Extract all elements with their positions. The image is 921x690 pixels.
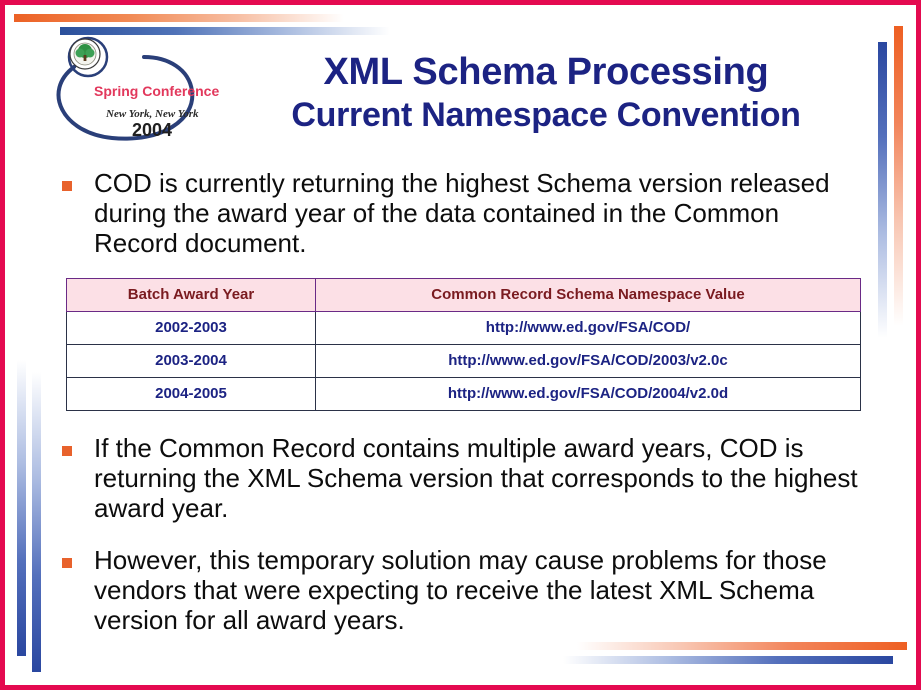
orange-square-bullet-icon — [62, 446, 72, 456]
cell-award-year: 2003-2004 — [67, 345, 316, 378]
namespace-table-body: 2002-2003 http://www.ed.gov/FSA/COD/ 200… — [67, 312, 861, 411]
slide-border-left — [0, 0, 5, 690]
table-header-row: Batch Award Year Common Record Schema Na… — [67, 279, 861, 312]
bullet-item-3: However, this temporary solution may cau… — [62, 545, 862, 635]
decor-bar-right-orange — [894, 26, 903, 326]
decor-bar-bottom-orange — [577, 642, 907, 650]
table-row: 2003-2004 http://www.ed.gov/FSA/COD/2003… — [67, 345, 861, 378]
slide-title: XML Schema Processing Current Namespace … — [216, 50, 876, 136]
slide-border-right — [916, 0, 921, 690]
conference-logo: Spring Conference New York, New York 200… — [40, 33, 220, 151]
decor-bar-bottom-blue — [563, 656, 893, 664]
cell-award-year: 2004-2005 — [67, 378, 316, 411]
cell-namespace-value: http://www.ed.gov/FSA/COD/2004/v2.0d — [316, 378, 861, 411]
slide-border-top — [0, 0, 921, 5]
bullet-item-3-text: However, this temporary solution may cau… — [94, 545, 862, 635]
bullet-item-2: If the Common Record contains multiple a… — [62, 433, 862, 523]
bullet-item-2-text: If the Common Record contains multiple a… — [94, 433, 862, 523]
title-line-primary: XML Schema Processing — [216, 50, 876, 94]
slide-border-bottom — [0, 685, 921, 690]
spacer-before-table — [62, 258, 862, 278]
namespace-table-head: Batch Award Year Common Record Schema Na… — [67, 279, 861, 312]
namespace-table: Batch Award Year Common Record Schema Na… — [66, 278, 861, 411]
slide-canvas: Spring Conference New York, New York 200… — [0, 0, 921, 690]
cell-namespace-value: http://www.ed.gov/FSA/COD/2003/v2.0c — [316, 345, 861, 378]
cell-namespace-value: http://www.ed.gov/FSA/COD/ — [316, 312, 861, 345]
table-header-batch-award-year: Batch Award Year — [67, 279, 316, 312]
decor-bar-left-blue-inner — [32, 372, 41, 672]
logo-year: 2004 — [132, 120, 172, 140]
table-header-namespace-value: Common Record Schema Namespace Value — [316, 279, 861, 312]
cell-award-year: 2002-2003 — [67, 312, 316, 345]
decor-bar-right-blue — [878, 42, 887, 338]
orange-square-bullet-icon — [62, 558, 72, 568]
logo-location: New York, New York — [105, 108, 199, 120]
bullet-item-1-text: COD is currently returning the highest S… — [94, 168, 862, 258]
table-row: 2004-2005 http://www.ed.gov/FSA/COD/2004… — [67, 378, 861, 411]
slide-body: COD is currently returning the highest S… — [62, 168, 862, 635]
spacer-between-bullets — [62, 523, 862, 545]
bullet-item-1: COD is currently returning the highest S… — [62, 168, 862, 258]
table-row: 2002-2003 http://www.ed.gov/FSA/COD/ — [67, 312, 861, 345]
spacer-after-table — [62, 411, 862, 433]
decor-bar-left-blue-outer — [17, 360, 26, 656]
title-line-secondary: Current Namespace Convention — [216, 94, 876, 136]
orange-square-bullet-icon — [62, 181, 72, 191]
logo-conference-name: Spring Conference — [94, 83, 219, 99]
decor-bar-top-orange — [14, 14, 344, 22]
